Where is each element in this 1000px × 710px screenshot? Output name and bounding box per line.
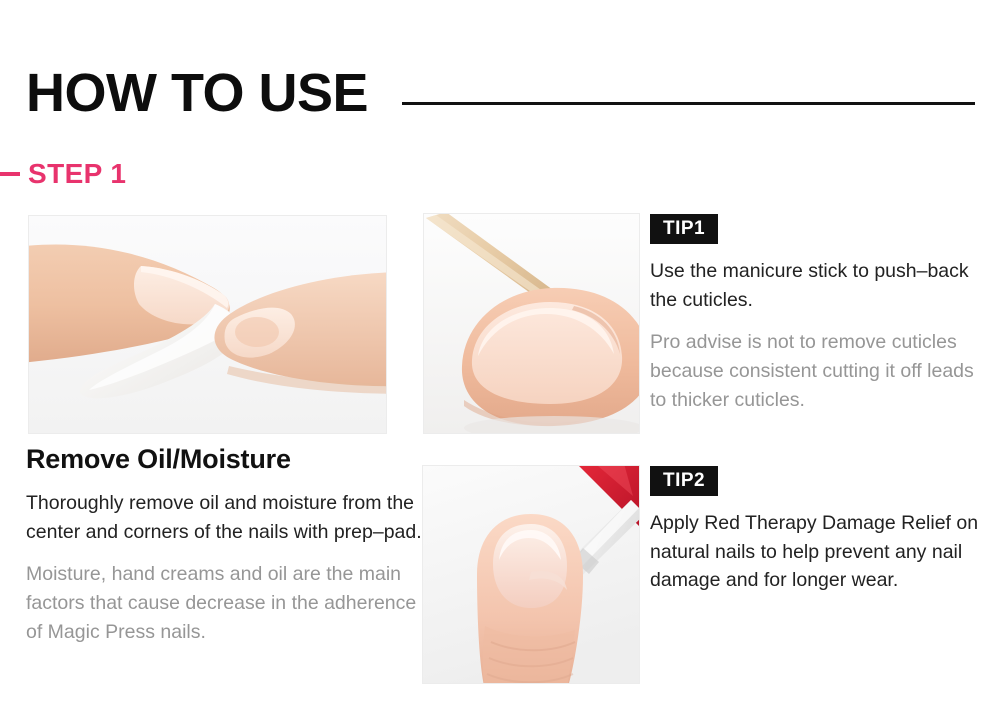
tip-badge-1: TIP1	[650, 214, 718, 244]
tip-badge-2: TIP2	[650, 466, 718, 496]
dash-icon	[0, 172, 20, 176]
tip-block-1: TIP1 Use the manicure stick to push–back…	[650, 214, 990, 414]
title-rule-divider	[402, 102, 975, 105]
remove-oil-copy-block: Remove Oil/Moisture Thoroughly remove oi…	[26, 444, 426, 646]
photo-red-therapy-illustration	[423, 466, 639, 683]
page-title: HOW TO USE	[26, 66, 368, 120]
photo-stick	[423, 213, 640, 434]
photo-red-therapy	[422, 465, 640, 684]
photo-stick-illustration	[424, 214, 639, 433]
section-paragraph-primary: Thoroughly remove oil and moisture from …	[26, 489, 426, 546]
section-paragraph-secondary: Moisture, hand creams and oil are the ma…	[26, 560, 426, 646]
photo-prep-pad	[28, 215, 387, 434]
tip-1-paragraph-secondary: Pro advise is not to remove cuticles bec…	[650, 328, 990, 414]
step-indicator: STEP 1	[0, 160, 126, 188]
photo-prep-pad-illustration	[29, 216, 386, 433]
section-heading: Remove Oil/Moisture	[26, 444, 426, 475]
tip-block-2: TIP2 Apply Red Therapy Damage Relief on …	[650, 466, 990, 609]
tip-2-paragraph-primary: Apply Red Therapy Damage Relief on natur…	[650, 509, 990, 595]
step-label: STEP 1	[28, 160, 126, 188]
tip-1-paragraph-primary: Use the manicure stick to push–back the …	[650, 257, 990, 314]
